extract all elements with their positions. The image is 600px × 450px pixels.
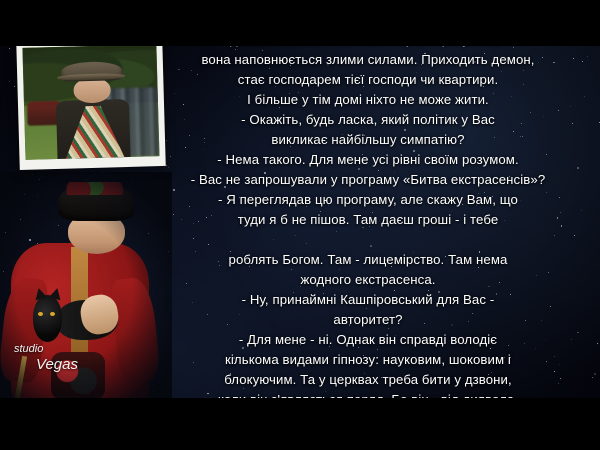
- cat-head: [33, 295, 63, 341]
- subtitle-line: - Вас не запрошували у програму «Битва е…: [152, 170, 584, 190]
- framed-photo-elderly-man-hutsul-hat: [16, 38, 166, 170]
- subtitle-line: - Окажіть, будь ласка, який політик у Ва…: [152, 110, 584, 130]
- watermark-line-2: Vegas: [36, 357, 78, 373]
- subtitle-line: жодного екстрасенса.: [152, 270, 584, 290]
- subtitle-line: вона наповнюється злими силами. Приходит…: [152, 50, 584, 70]
- subtitle-line: І більше у тім домі ніхто не може жити.: [152, 90, 584, 110]
- subtitle-line: блокуючим. Та у церквах треба бити у дзв…: [152, 370, 584, 390]
- subtitle-line: стає господарем тієї господи чи квартири…: [152, 70, 584, 90]
- letterbox-bottom: [0, 398, 600, 450]
- photo-figure: [55, 61, 130, 159]
- subtitle-line: роблять Богом. Там - лицемірство. Там не…: [152, 250, 584, 270]
- subtitle-line: авторитет?: [152, 310, 584, 330]
- subtitle-line: туди я б не пішов. Там даєш гроші - і те…: [152, 210, 584, 230]
- photo-image: [22, 44, 159, 160]
- watermark-line-1: studio: [14, 344, 78, 356]
- video-frame: домівок. Хата, в якій нема віри, - це пу…: [0, 0, 600, 450]
- subtitle-line: [152, 230, 584, 250]
- subtitle-line: - Ну, принаймні Кашпіровський для Вас -: [152, 290, 584, 310]
- subtitle-line: - Для мене - ні. Однак він справді волод…: [152, 330, 584, 350]
- subtitle-line: викликає найбільшу симпатію?: [152, 130, 584, 150]
- studio-watermark: studio Vegas: [10, 344, 78, 372]
- subtitle-line: - Нема такого. Для мене усі рівні своїм …: [152, 150, 584, 170]
- man-fur-hat: [58, 184, 135, 221]
- subtitle-block: домівок. Хата, в якій нема віри, - це пу…: [152, 30, 584, 410]
- subtitle-line: кількома видами гіпнозу: науковим, шоков…: [152, 350, 584, 370]
- letterbox-top: [0, 0, 600, 46]
- photo-figure-hat: [61, 61, 122, 82]
- hat-ornament: [66, 182, 123, 195]
- subtitle-line: - Я переглядав цю програму, але скажу Ва…: [152, 190, 584, 210]
- cat-ear-right: [49, 287, 63, 301]
